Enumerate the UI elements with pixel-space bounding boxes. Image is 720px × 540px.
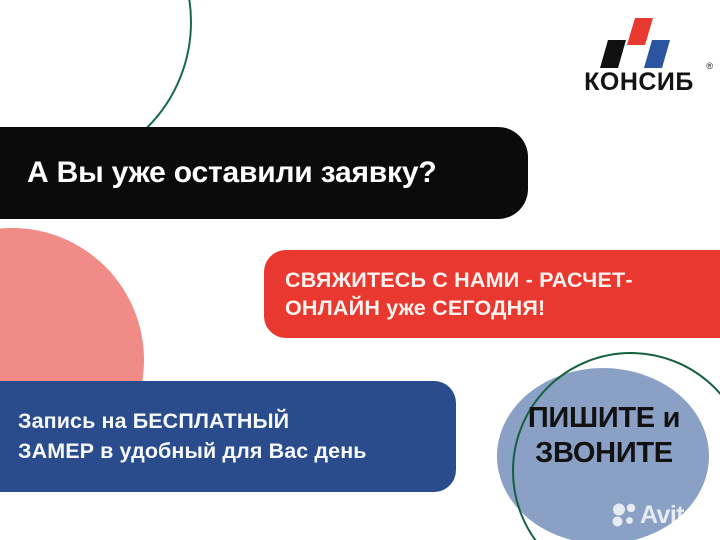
banner-free-measurement: Запись на БЕСПЛАТНЫЙ ЗАМЕР в удобный для…: [0, 381, 456, 492]
banner-free-measurement-text: Запись на БЕСПЛАТНЫЙ ЗАМЕР в удобный для…: [18, 407, 367, 466]
brand-logo: КОНСИБ ®: [566, 18, 712, 100]
logo-wordmark: КОНСИБ: [566, 70, 712, 95]
banner-contact: СВЯЖИТЕСЬ С НАМИ - РАСЧЕТ- ОНЛАЙН уже СЕ…: [264, 250, 720, 338]
logo-mark-icon: [600, 18, 676, 68]
banner-question: А Вы уже оставили заявку?: [0, 127, 528, 219]
call-to-action-line-2: ЗВОНИТЕ: [500, 436, 708, 471]
banner-contact-line-1: СВЯЖИТЕСЬ С НАМИ - РАСЧЕТ-: [285, 266, 633, 294]
banner-question-text: А Вы уже оставили заявку?: [27, 157, 436, 189]
call-to-action-line-1: ПИШИТЕ и: [500, 401, 708, 436]
registered-trademark-icon: ®: [706, 62, 713, 71]
avito-watermark-text: Avito: [640, 503, 699, 528]
banner-contact-line-2: ОНЛАЙН уже СЕГОДНЯ!: [285, 294, 633, 322]
avito-watermark: Avito: [612, 500, 716, 530]
banner-free-measurement-line-1: Запись на БЕСПЛАТНЫЙ: [18, 407, 367, 437]
call-to-action-text: ПИШИТЕ и ЗВОНИТЕ: [500, 401, 708, 472]
banner-free-measurement-line-2: ЗАМЕР в удобный для Вас день: [18, 437, 367, 467]
banner-contact-text: СВЯЖИТЕСЬ С НАМИ - РАСЧЕТ- ОНЛАЙН уже СЕ…: [285, 266, 633, 323]
avito-logo-icon: [612, 502, 638, 528]
poster-canvas: КОНСИБ ® А Вы уже оставили заявку? СВЯЖИ…: [0, 0, 720, 540]
